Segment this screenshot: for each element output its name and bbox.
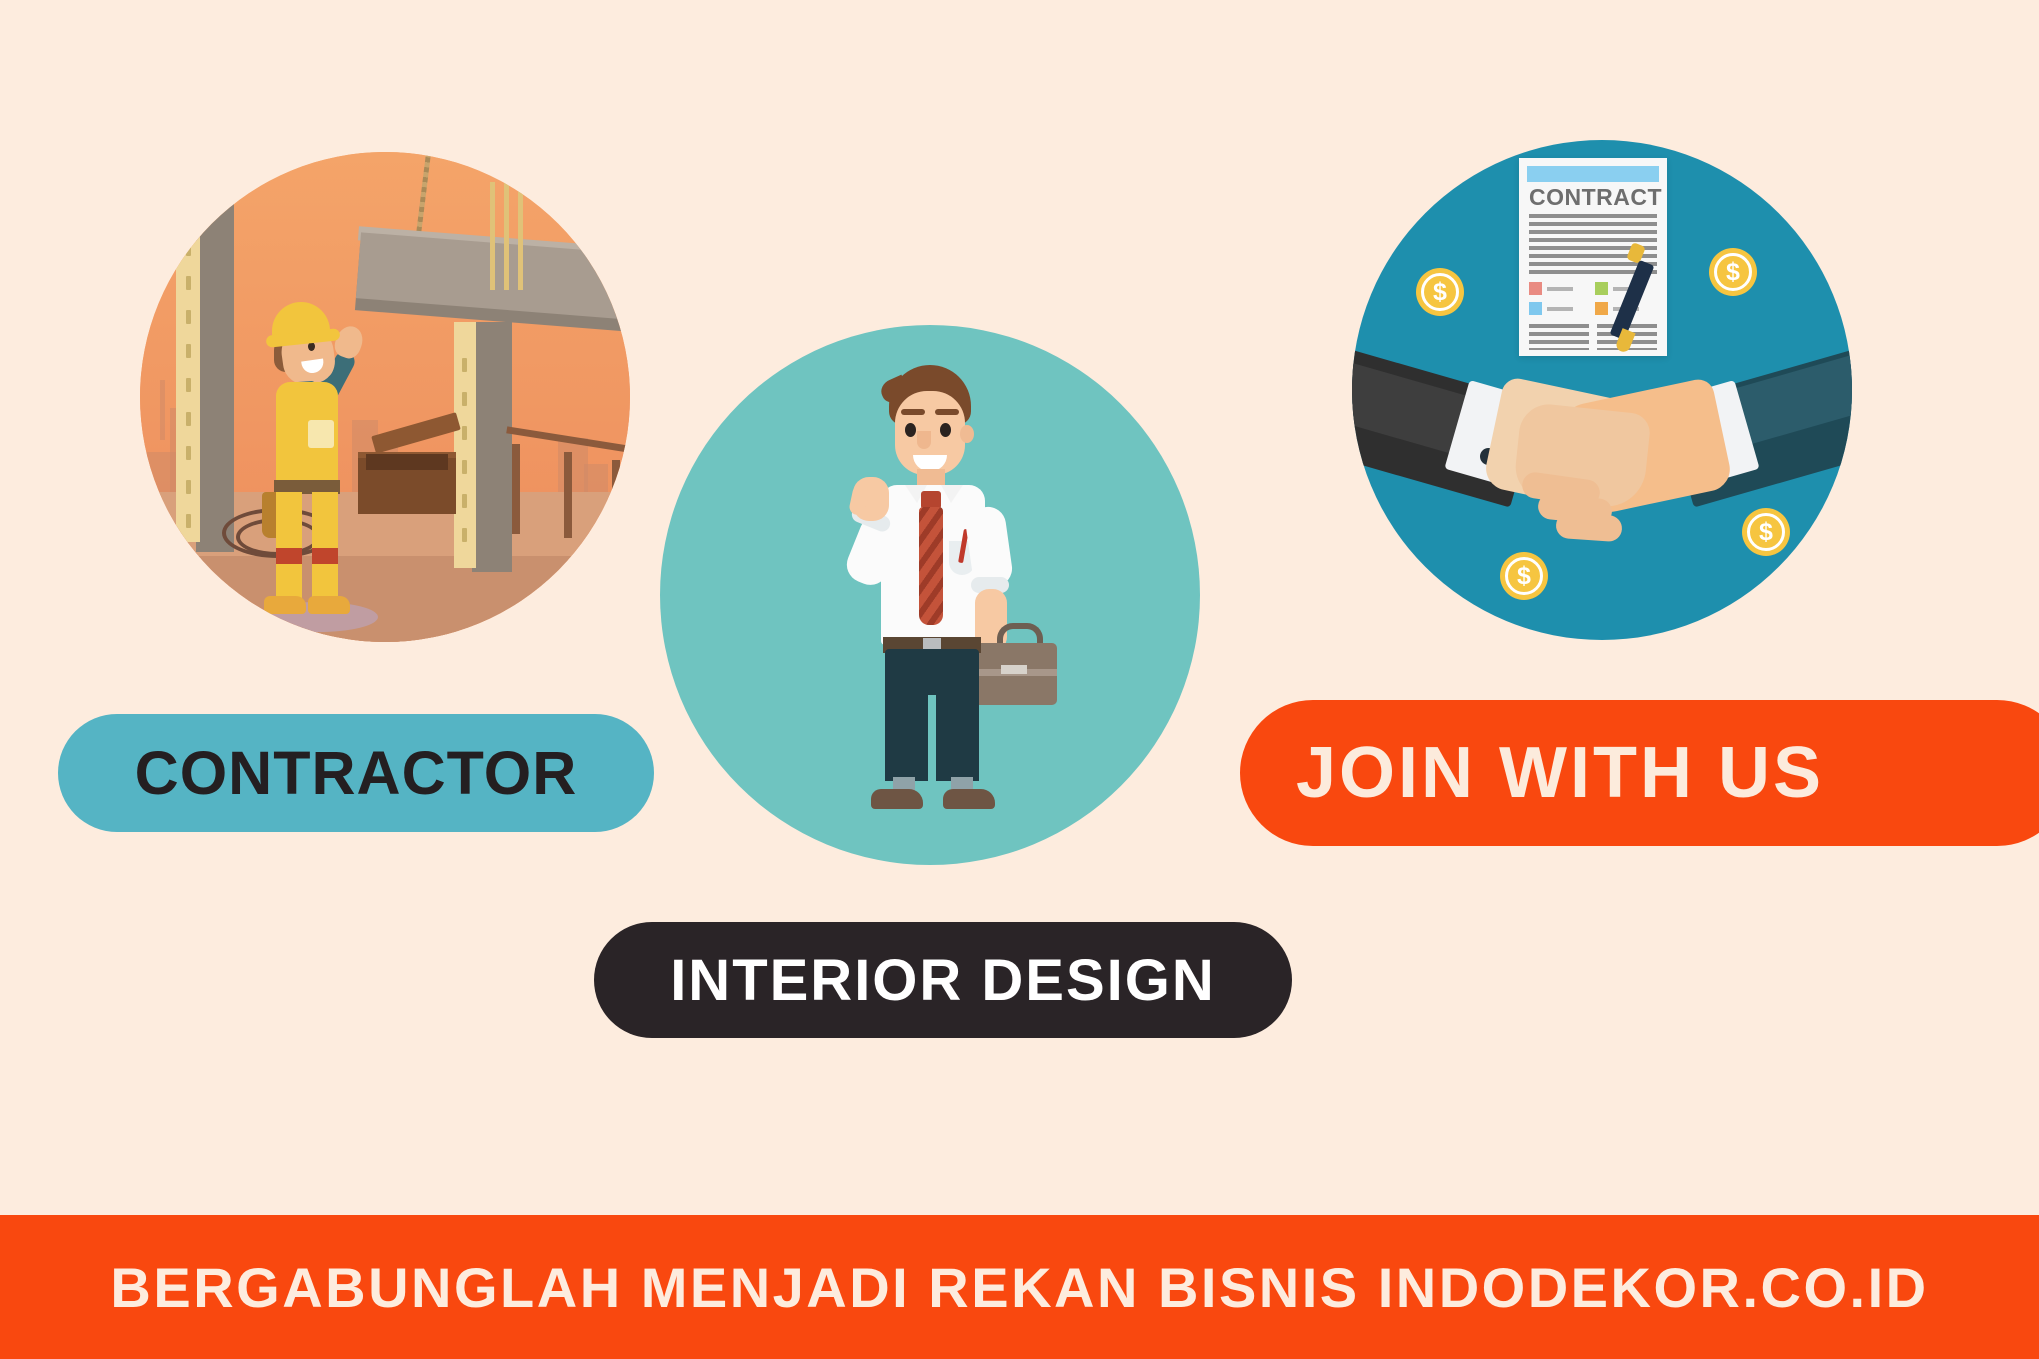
briefcase-lock xyxy=(1001,665,1027,674)
concrete-column xyxy=(196,152,234,552)
skyline-antenna xyxy=(160,380,165,440)
worker-leg-right xyxy=(312,492,338,602)
dollar-coin-icon: $ xyxy=(1500,552,1548,600)
contractor-illustration xyxy=(140,152,630,642)
construction-worker xyxy=(244,302,394,632)
document-text-lines xyxy=(1529,324,1589,350)
footer-tagline: BERGABUNGLAH MENJADI REKAN BISNIS INDODE… xyxy=(110,1255,1928,1320)
column-bolt-dots xyxy=(186,232,191,532)
worker-boot-left xyxy=(264,596,306,614)
interior-design-button[interactable]: INTERIOR DESIGN xyxy=(594,922,1292,1038)
concrete-column xyxy=(472,322,512,572)
checkbox-label xyxy=(1547,307,1573,311)
handshake-illustration: CONTRACT xyxy=(1352,140,1852,640)
contract-document: CONTRACT xyxy=(1519,158,1667,356)
worker-leg-left xyxy=(276,492,302,602)
businessman-figure xyxy=(845,365,1035,825)
document-header-bar xyxy=(1527,166,1659,182)
coin-symbol: $ xyxy=(1759,520,1773,545)
dollar-coin-icon: $ xyxy=(1416,268,1464,316)
eyebrow-right xyxy=(935,409,959,415)
coin-symbol: $ xyxy=(1517,564,1531,589)
trouser-gap xyxy=(928,695,936,785)
join-with-us-button[interactable]: JOIN WITH US xyxy=(1240,700,2039,846)
checkbox-orange xyxy=(1595,302,1608,315)
businessman-ear xyxy=(960,425,974,443)
striped-tie xyxy=(919,507,943,625)
worker-kneepad-left xyxy=(276,548,302,564)
eye-left xyxy=(905,423,916,437)
dollar-coin-icon: $ xyxy=(1742,508,1790,556)
businessman-nose xyxy=(917,431,931,449)
checkbox-blue xyxy=(1529,302,1542,315)
shirt-collar-right xyxy=(941,485,963,503)
eyebrow-left xyxy=(901,409,925,415)
worker-kneepad-right xyxy=(312,548,338,564)
contractor-button[interactable]: CONTRACTOR xyxy=(58,714,654,832)
checkbox-red xyxy=(1529,282,1542,295)
railing-post xyxy=(512,444,520,534)
column-bolt-dots xyxy=(462,348,467,548)
railing-post xyxy=(612,460,620,542)
checkbox-label xyxy=(1547,287,1573,291)
dollar-coin-icon: $ xyxy=(1709,248,1757,296)
contract-title: CONTRACT xyxy=(1529,186,1657,209)
worker-boot-right xyxy=(308,596,350,614)
designer-illustration xyxy=(660,325,1200,865)
eye-right xyxy=(940,423,951,437)
checkbox-green xyxy=(1595,282,1608,295)
railing-post xyxy=(564,452,572,538)
shoe-left xyxy=(871,789,923,809)
footer-banner: BERGABUNGLAH MENJADI REKAN BISNIS INDODE… xyxy=(0,1215,2039,1359)
promo-banner: CONTRACT xyxy=(0,0,2039,1359)
coin-symbol: $ xyxy=(1726,260,1740,285)
shoe-right xyxy=(943,789,995,809)
worker-chest-pocket xyxy=(308,420,334,448)
coin-symbol: $ xyxy=(1433,280,1447,305)
finger xyxy=(1555,512,1623,543)
